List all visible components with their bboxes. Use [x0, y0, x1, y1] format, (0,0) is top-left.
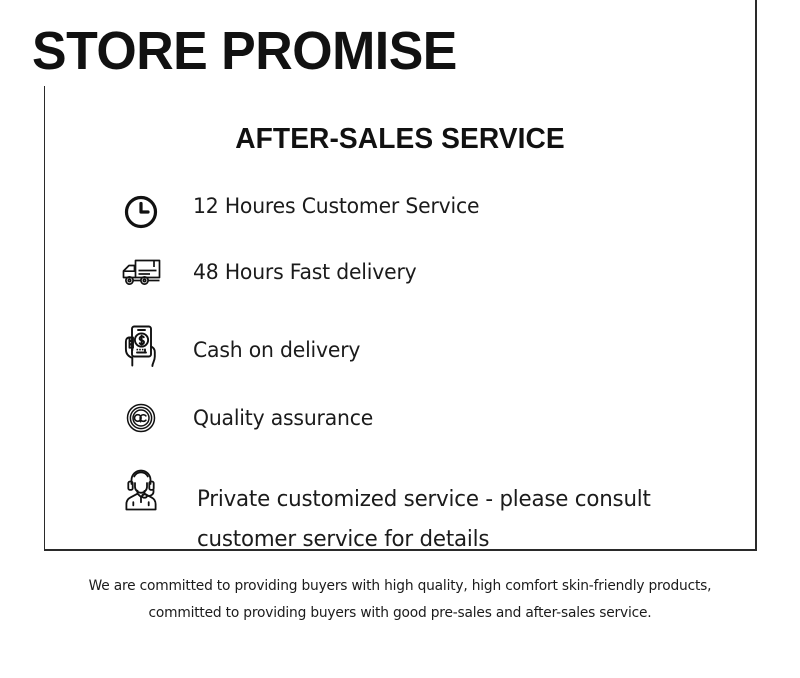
delivery-truck-icon	[119, 256, 163, 288]
qc-badge-icon	[119, 400, 163, 436]
feature-label: 12 Houres Customer Service	[193, 182, 508, 226]
feature-list: 12 Houres Customer Service	[45, 182, 755, 560]
feature-label: Cash on delivery	[193, 322, 389, 370]
store-promise-banner: STORE PROMISE AFTER-SALES SERVICE 12 Hou…	[0, 0, 800, 678]
clock-icon	[119, 194, 163, 230]
cash-on-delivery-phone-icon	[119, 324, 163, 368]
feature-item-fast-delivery: 48 Hours Fast delivery	[45, 252, 755, 322]
footer-text: We are committed to providing buyers wit…	[20, 573, 780, 627]
feature-label: Private customized service - please cons…	[197, 464, 738, 560]
feature-label: 48 Hours Fast delivery	[193, 252, 446, 292]
footer-line-2: committed to providing buyers with good …	[20, 600, 780, 627]
feature-label: Quality assurance	[193, 394, 402, 438]
panel-heading: AFTER-SALES SERVICE	[56, 122, 745, 156]
feature-item-private-customized-service: Private customized service - please cons…	[45, 464, 755, 560]
feature-item-cash-on-delivery: Cash on delivery	[45, 322, 755, 394]
page-title: STORE PROMISE	[32, 22, 457, 80]
promise-panel: AFTER-SALES SERVICE 12 Houres Customer S…	[44, 86, 755, 550]
feature-item-quality-assurance: Quality assurance	[45, 394, 755, 464]
customer-support-headset-icon	[119, 466, 163, 512]
feature-item-customer-service: 12 Houres Customer Service	[45, 182, 755, 252]
footer-line-1: We are committed to providing buyers wit…	[20, 573, 780, 600]
